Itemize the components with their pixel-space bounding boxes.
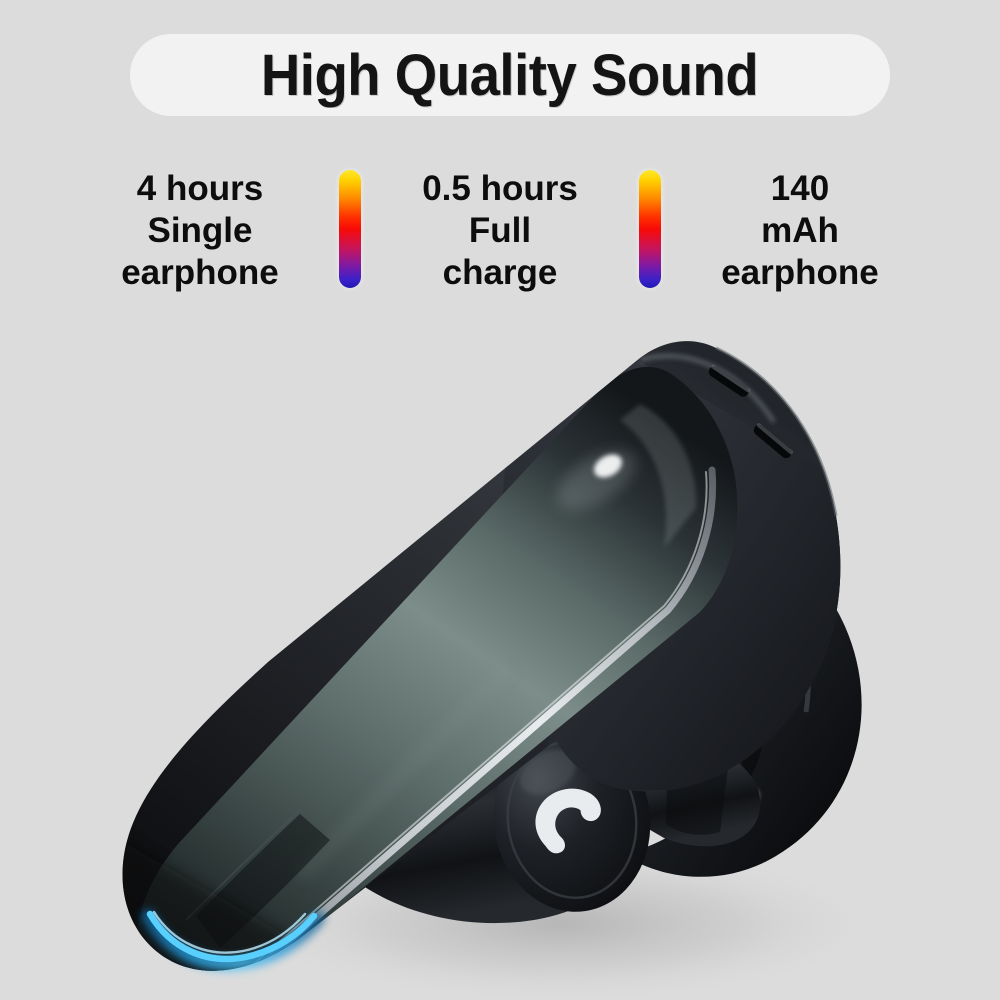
spec-line-2: mAh bbox=[761, 210, 839, 252]
title-pill: High Quality Sound bbox=[130, 34, 890, 116]
spec-line-3: charge bbox=[443, 252, 558, 294]
spec-strip: 4 hours Single earphone 0.5 hours Full c… bbox=[0, 162, 1000, 302]
spec-block-battery-life: 4 hours Single earphone bbox=[75, 162, 325, 294]
spec-line-2: Full bbox=[469, 210, 531, 252]
spec-line-2: Single bbox=[147, 210, 252, 252]
product-image-stage bbox=[0, 320, 1000, 1000]
spec-block-capacity: 140 mAh earphone bbox=[675, 162, 925, 294]
page-title: High Quality Sound bbox=[261, 42, 758, 109]
spec-line-3: earphone bbox=[721, 252, 879, 294]
spec-block-charge-time: 0.5 hours Full charge bbox=[375, 162, 625, 294]
spec-line-1: 0.5 hours bbox=[422, 168, 578, 210]
spec-line-1: 4 hours bbox=[137, 168, 263, 210]
gradient-divider-bar bbox=[639, 170, 661, 288]
infographic-page: High Quality Sound 4 hours Single earpho… bbox=[0, 0, 1000, 1000]
bluetooth-headset-illustration bbox=[0, 320, 1000, 1000]
gradient-divider-bar bbox=[339, 170, 361, 288]
spec-line-1: 140 bbox=[771, 168, 829, 210]
spec-line-3: earphone bbox=[121, 252, 279, 294]
